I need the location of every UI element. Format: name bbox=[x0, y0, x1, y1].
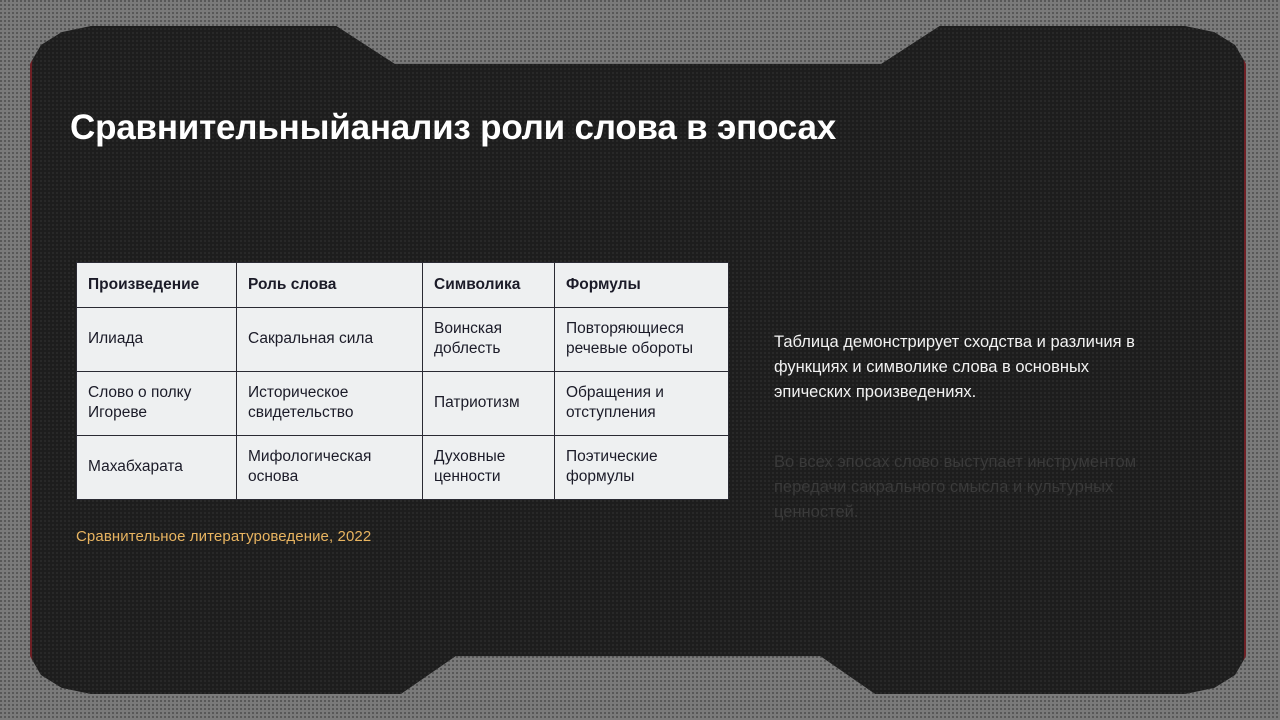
summary-paragraph: Таблица демонстрирует сходства и различи… bbox=[774, 330, 1152, 405]
table-header-row: Произведение Роль слова Символика Формул… bbox=[77, 263, 729, 308]
table-cell: Повторяющиеся речевые обороты bbox=[555, 308, 729, 372]
table-cell: Историческое свидетельство bbox=[237, 372, 423, 436]
table-cell: Илиада bbox=[77, 308, 237, 372]
comparison-table: Произведение Роль слова Символика Формул… bbox=[76, 262, 729, 500]
slide-content: Сравнительныйанализ роли слова в эпосах … bbox=[30, 22, 1246, 698]
table-row: Махабхарата Мифологическая основа Духовн… bbox=[77, 436, 729, 500]
table-cell: Сакральная сила bbox=[237, 308, 423, 372]
table-row: Слово о полку Игореве Историческое свиде… bbox=[77, 372, 729, 436]
table-cell: Махабхарата bbox=[77, 436, 237, 500]
table-header-cell: Символика bbox=[423, 263, 555, 308]
table-cell: Мифологическая основа bbox=[237, 436, 423, 500]
table-row: Илиада Сакральная сила Воинская доблесть… bbox=[77, 308, 729, 372]
page-title: Сравнительныйанализ роли слова в эпосах bbox=[70, 108, 1070, 148]
table-source-caption: Сравнительное литературоведение, 2022 bbox=[76, 528, 371, 545]
slide-frame: Сравнительныйанализ роли слова в эпосах … bbox=[30, 22, 1246, 698]
table-header-cell: Формулы bbox=[555, 263, 729, 308]
table-cell: Обращения и отступления bbox=[555, 372, 729, 436]
table-cell: Патриотизм bbox=[423, 372, 555, 436]
table-header-cell: Роль слова bbox=[237, 263, 423, 308]
table-cell: Слово о полку Игореве bbox=[77, 372, 237, 436]
table-cell: Воинская доблесть bbox=[423, 308, 555, 372]
table-cell: Поэтические формулы bbox=[555, 436, 729, 500]
table-header-cell: Произведение bbox=[77, 263, 237, 308]
table-cell: Духовные ценности bbox=[423, 436, 555, 500]
footnote-paragraph: Во всех эпосах слово выступает инструмен… bbox=[774, 450, 1162, 525]
